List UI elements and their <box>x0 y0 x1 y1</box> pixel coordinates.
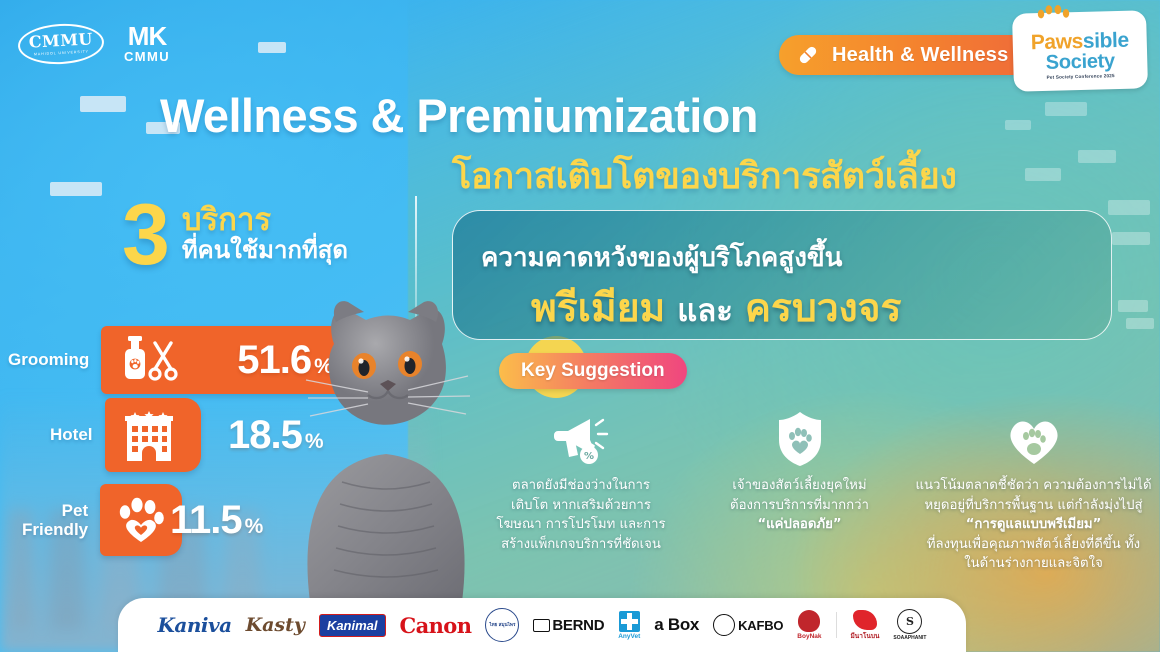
services-count-sublabel: ที่คนใช้มากที่สุด <box>182 237 348 265</box>
suggestion-text: เจ้าของสัตว์เลี้ยงยุคใหม่ ต้องการบริการท… <box>730 476 869 535</box>
deco-rect <box>1118 300 1148 312</box>
conference-logo-line3: Pet Society Conference 2025 <box>1047 73 1115 80</box>
paw-heart-icon <box>114 494 168 546</box>
sponsor-label: BERND <box>552 617 604 634</box>
deco-rect <box>1112 232 1150 245</box>
mk-cmmu-logo: MK CMMU <box>124 24 170 64</box>
shield-paw-icon <box>774 408 826 470</box>
sponsor-logo-abox: a Box <box>654 608 699 642</box>
expectation-word-premium: พรีเมียม <box>531 286 665 331</box>
boynak-mark-icon <box>798 610 820 632</box>
sponsor-label: AnyVet <box>618 633 640 640</box>
sponsor-label: Kanimal <box>319 614 386 637</box>
mk-mark: MK <box>128 24 166 49</box>
deco-rect <box>258 42 286 53</box>
category-pill-label: Health & Wellness <box>832 44 1008 67</box>
suggestion-text: แนวโน้มตลาดชี้ชัดว่า ความต้องการไม่ได้ ห… <box>915 476 1151 574</box>
deco-rect <box>1078 150 1116 163</box>
expectation-line1: ความคาดหวังของผู้บริโภคสูงขึ้น <box>481 237 842 278</box>
sponsor-label: KAFBO <box>738 618 783 633</box>
cmmu-oval-logo: CMMU MAHIDOL UNIVERSITY <box>17 22 105 66</box>
sponsor-logo-kaniva: Kaniva <box>158 608 232 642</box>
cmmu-oval-main: CMMU <box>28 31 93 50</box>
sponsor-divider <box>836 612 837 638</box>
sponsor-label: Kaniva <box>158 613 232 637</box>
stat-value: 11.5 <box>170 498 242 543</box>
sponsor-label-wrap: BoyNak <box>797 610 821 640</box>
page-title-en: Wellness & Premiumization <box>160 88 758 143</box>
suggestion-emphasis: “แค่ปลอดภัย” <box>757 517 841 532</box>
stat-label: Hotel <box>50 425 93 444</box>
sponsor-label: ไทย สมุนไพร <box>485 608 519 642</box>
suggestion-column-premium: แนวโน้มตลาดชี้ชัดว่า ความต้องการไม่ได้ ห… <box>907 408 1160 574</box>
paw-print-icon <box>1034 3 1075 26</box>
sponsor-label-wrap: S SOAAPHANIT <box>893 609 926 641</box>
megaphone-discount-icon: % <box>550 408 612 470</box>
sponsor-label-wrap: AnyVet <box>618 611 640 640</box>
stat-label: PetFriendly <box>22 501 88 539</box>
deco-rect <box>1045 102 1087 116</box>
deco-rect <box>1108 200 1150 215</box>
sponsor-label: SOAAPHANIT <box>893 635 926 641</box>
conference-logo: Pawssible Society Pet Society Conference… <box>1012 10 1148 91</box>
sponsor-logo-thai-red: มีนาโนบน <box>851 608 880 642</box>
deco-rect <box>1126 318 1154 329</box>
deco-rect <box>1005 120 1031 130</box>
sponsor-label-wrap: มีนาโนบน <box>851 610 880 641</box>
sponsor-label: Canon <box>400 613 472 638</box>
category-pill[interactable]: Health & Wellness <box>779 35 1034 75</box>
sponsor-label: BoyNak <box>797 633 821 640</box>
bernd-mark-icon <box>533 619 550 632</box>
hotel-building-icon <box>119 407 179 463</box>
conference-logo-line2: Society <box>1046 51 1116 73</box>
sponsor-label: a Box <box>654 615 699 635</box>
expectation-line2: พรีเมียมและครบวงจร <box>531 277 901 339</box>
heart-paw-icon <box>1005 408 1063 470</box>
svg-text:%: % <box>584 451 594 462</box>
expectation-conjunction: และ <box>677 293 733 329</box>
suggestion-emphasis: “การดูแลแบบพรีเมียม” <box>966 517 1102 532</box>
sponsor-bar: Kaniva Kasty Kanimal Canon ไทย สมุนไพร B… <box>118 598 966 652</box>
kafbo-mark-icon <box>713 614 735 636</box>
stat-bar: 18.5% <box>105 398 201 472</box>
suggestion-column-safety: เจ้าของสัตว์เลี้ยงยุคใหม่ ต้องการบริการท… <box>692 408 907 574</box>
stat-unit: % <box>245 515 263 539</box>
sponsor-label-wrap: KAFBO <box>713 614 783 636</box>
top-services-callout: 3 บริการ ที่คนใช้มากที่สุด <box>122 198 348 274</box>
brand-logos: CMMU MAHIDOL UNIVERSITY MK CMMU <box>18 24 170 64</box>
sponsor-label-wrap: BERND <box>533 617 604 634</box>
stat-label: Grooming <box>8 350 89 369</box>
sponsor-logo-kanimal: Kanimal <box>319 608 386 642</box>
medical-cross-icon <box>619 611 640 632</box>
deco-rect <box>1025 168 1061 181</box>
suggestion-text: ตลาดยังมีช่องว่างในการ เติบโต หากเสริมด้… <box>496 476 665 554</box>
services-count: 3 <box>122 198 170 274</box>
sponsor-logo-anyvet: AnyVet <box>618 608 640 642</box>
sponsor-label: Kasty <box>246 614 305 636</box>
stat-bar: 11.5% <box>100 484 182 556</box>
key-suggestion-columns: % ตลาดยังมีช่องว่างในการ เติบโต หากเสริม… <box>470 408 1160 574</box>
sponsor-logo-boynak: BoyNak <box>797 608 821 642</box>
thai-red-mark-icon <box>853 610 877 630</box>
sponsor-logo-kafbo: KAFBO <box>713 608 783 642</box>
sponsor-logo-bernd: BERND <box>533 608 604 642</box>
soaaphanit-mark-icon: S <box>897 609 922 634</box>
infographic-canvas: CMMU MAHIDOL UNIVERSITY MK CMMU Health &… <box>0 0 1160 652</box>
deco-rect <box>50 182 102 196</box>
key-suggestion-pill[interactable]: Key Suggestion <box>499 353 687 389</box>
capsule-icon <box>795 42 821 68</box>
shampoo-scissors-icon <box>115 335 181 385</box>
sponsor-logo-kasty: Kasty <box>246 608 305 642</box>
stat-row-hotel: Hotel <box>50 398 201 472</box>
suggestion-column-marketing: % ตลาดยังมีช่องว่างในการ เติบโต หากเสริม… <box>470 408 692 574</box>
sponsor-label: มีนาโนบน <box>851 631 880 641</box>
mk-sub: CMMU <box>124 49 170 64</box>
stat-value-wrap: 11.5% <box>170 498 262 543</box>
services-count-label: บริการ <box>182 204 348 237</box>
sponsor-logo-thai-seal: ไทย สมุนไพร <box>485 608 519 642</box>
deco-rect <box>80 96 126 112</box>
sponsor-logo-soaaphanit: S SOAAPHANIT <box>893 608 926 642</box>
key-suggestion-label: Key Suggestion <box>521 360 665 382</box>
sponsor-logo-canon: Canon <box>400 608 472 642</box>
page-title-th: โอกาสเติบโตของบริการสัตว์เลี้ยง <box>452 147 957 204</box>
expectation-panel: ความคาดหวังของผู้บริโภคสูงขึ้น พรีเมียมแ… <box>452 210 1112 340</box>
stat-row-pet-friendly: PetFriendly 11.5% <box>22 484 182 556</box>
expectation-word-fullservice: ครบวงจร <box>745 286 902 331</box>
